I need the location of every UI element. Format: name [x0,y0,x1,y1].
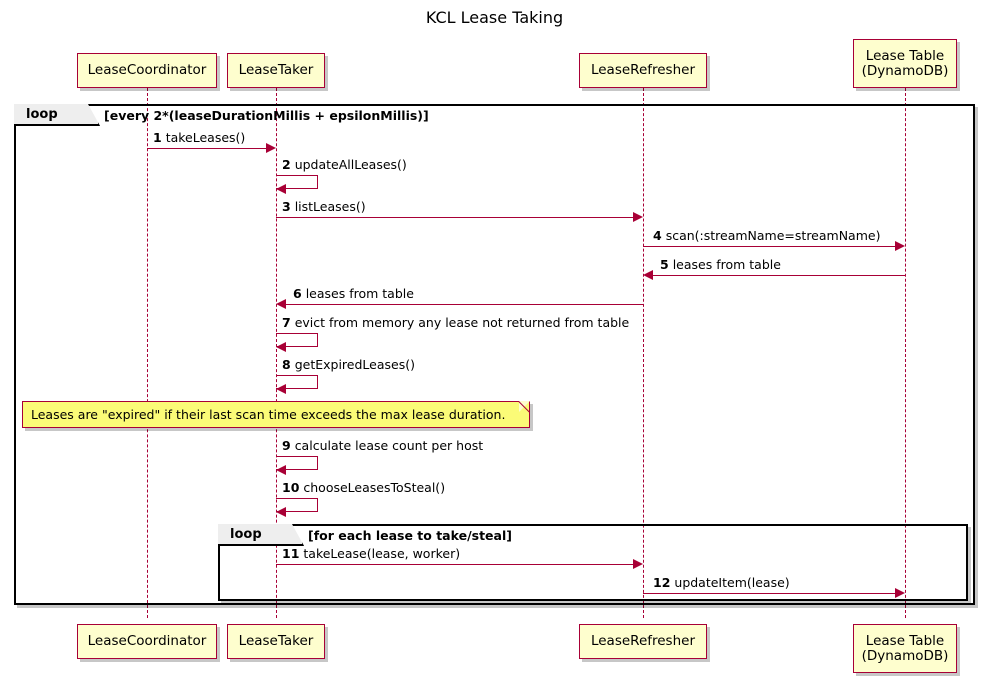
message-9-arrowhead [276,465,286,475]
participant-label: LeaseCoordinator [88,634,207,649]
message-2-number: 2 [282,157,291,172]
message-7-label: 7 evict from memory any lease not return… [282,316,629,330]
participant-refresher-bottom[interactable]: LeaseRefresher [579,624,707,659]
message-12-number: 12 [653,575,670,590]
message-9-text: calculate lease count per host [295,438,483,453]
participant-taker-top[interactable]: LeaseTaker [227,53,325,88]
message-6-label: 6 leases from table [293,287,414,301]
message-1-arrowhead [266,143,276,153]
note-text: Leases are "expired" if their last scan … [31,407,505,422]
participant-label: Lease Table (DynamoDB) [862,49,949,79]
fragment-inner-loop-guard: [for each lease to take/steal] [308,528,512,543]
message-5-label: 5 leases from table [660,258,781,272]
message-8-number: 8 [282,357,291,372]
message-4-number: 4 [653,228,662,243]
fragment-operator-label: loop [230,527,262,542]
message-2-arrowhead [276,184,286,194]
message-5-line [653,275,905,276]
message-7-arrowhead [276,342,286,352]
message-10-label: 10 chooseLeasesToSteal() [282,481,445,495]
participant-coordinator-bottom[interactable]: LeaseCoordinator [77,624,217,659]
message-3-label: 3 listLeases() [282,200,366,214]
message-11-arrowhead [633,559,643,569]
message-10-number: 10 [282,480,299,495]
message-6-text: leases from table [306,286,414,301]
message-1-label: 1 takeLeases() [153,131,245,145]
message-4-arrowhead [895,241,905,251]
participant-table-bottom[interactable]: Lease Table (DynamoDB) [853,624,957,673]
participant-label: Lease Table (DynamoDB) [862,634,949,664]
message-5-text: leases from table [673,257,781,272]
message-7-number: 7 [282,315,291,330]
participant-label: LeaseCoordinator [88,63,207,78]
message-4-line [643,246,895,247]
message-1-text: takeLeases() [166,130,246,145]
message-4-text: scan(:streamName=streamName) [666,228,881,243]
message-3-number: 3 [282,199,291,214]
participant-label: LeaseTaker [239,63,314,78]
diagram-title: KCL Lease Taking [0,8,989,27]
participant-label: LeaseTaker [239,634,314,649]
message-4-label: 4 scan(:streamName=streamName) [653,229,880,243]
fragment-outer-loop-guard: [every 2*(leaseDurationMillis + epsilonM… [104,108,429,123]
message-12-label: 12 updateItem(lease) [653,576,790,590]
message-11-text: takeLease(lease, worker) [303,546,460,561]
participant-coordinator-top[interactable]: LeaseCoordinator [77,53,217,88]
message-5-arrowhead [643,270,653,280]
message-1-line [147,148,266,149]
message-2-text: updateAllLeases() [295,157,407,172]
participant-table-top[interactable]: Lease Table (DynamoDB) [853,39,957,88]
message-11-line [276,564,633,565]
message-2-label: 2 updateAllLeases() [282,158,407,172]
message-12-text: updateItem(lease) [674,575,789,590]
message-6-line [286,304,643,305]
message-5-number: 5 [660,257,669,272]
message-9-number: 9 [282,438,291,453]
message-8-label: 8 getExpiredLeases() [282,358,415,372]
fragment-inner-loop-operator: loop [218,524,304,546]
message-3-text: listLeases() [295,199,366,214]
message-11-number: 11 [282,546,299,561]
participant-taker-bottom[interactable]: LeaseTaker [227,624,325,659]
message-8-text: getExpiredLeases() [295,357,415,372]
message-12-arrowhead [895,588,905,598]
participant-refresher-top[interactable]: LeaseRefresher [579,53,707,88]
message-8-arrowhead [276,384,286,394]
sequence-diagram-canvas: KCL Lease Taking LeaseCoordinator LeaseT… [0,0,989,681]
fragment-operator-label: loop [26,107,58,122]
message-12-line [643,593,895,594]
participant-label: LeaseRefresher [591,63,695,78]
fragment-outer-loop-operator: loop [14,104,100,126]
message-10-text: chooseLeasesToSteal() [303,480,445,495]
message-10-arrowhead [276,507,286,517]
message-9-label: 9 calculate lease count per host [282,439,483,453]
message-3-arrowhead [633,212,643,222]
message-7-text: evict from memory any lease not returned… [295,315,630,330]
message-6-arrowhead [276,299,286,309]
message-6-number: 6 [293,286,302,301]
participant-label: LeaseRefresher [591,634,695,649]
message-3-line [276,217,633,218]
note-expired-leases: Leases are "expired" if their last scan … [22,401,530,428]
message-1-number: 1 [153,130,162,145]
message-11-label: 11 takeLease(lease, worker) [282,547,460,561]
